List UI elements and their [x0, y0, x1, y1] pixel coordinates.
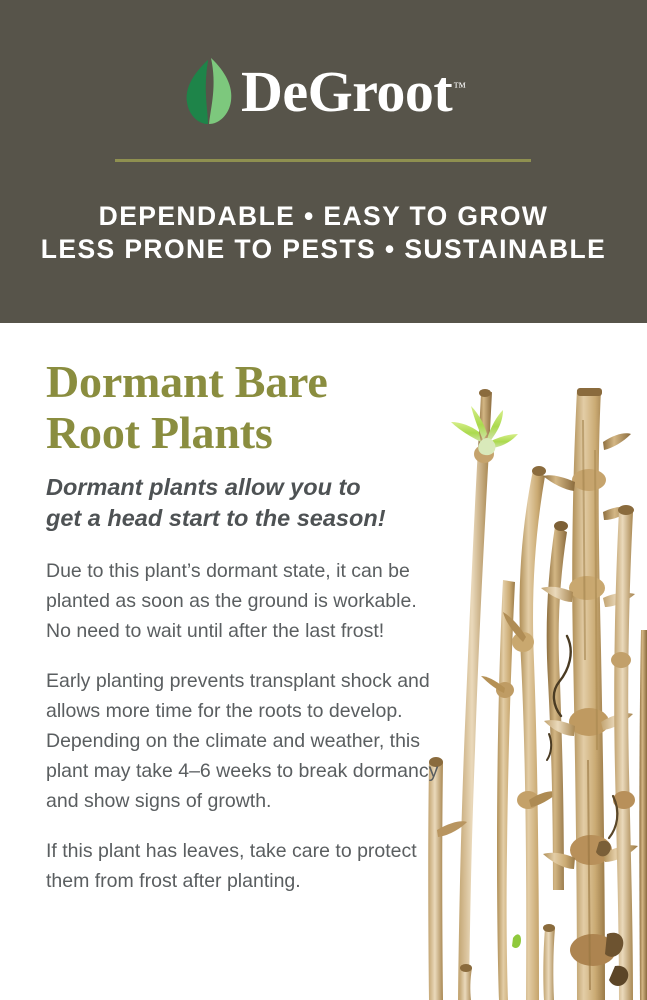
- header-divider: [115, 159, 531, 162]
- brand-wordmark: DeGroot™: [241, 63, 466, 121]
- page-title-line-1: Dormant Bare: [46, 356, 446, 407]
- body-paragraph-1: Due to this plant’s dormant state, it ca…: [46, 556, 446, 646]
- tagline-line-2: LESS PRONE TO PESTS • SUSTAINABLE: [0, 233, 647, 266]
- trademark-icon: ™: [453, 79, 466, 94]
- brand-tagline: DEPENDABLE • EASY TO GROW LESS PRONE TO …: [0, 200, 647, 266]
- tagline-line-1: DEPENDABLE • EASY TO GROW: [0, 200, 647, 233]
- page-title: Dormant Bare Root Plants: [46, 356, 446, 458]
- brand-header: DeGroot™ DEPENDABLE • EASY TO GROW LESS …: [0, 0, 647, 323]
- bare-root-plant-photo: [417, 330, 647, 1000]
- page-subtitle-line-1: Dormant plants allow you to: [46, 472, 446, 503]
- page-title-line-2: Root Plants: [46, 407, 446, 458]
- page-subtitle-line-2: get a head start to the season!: [46, 503, 446, 534]
- body-paragraph-2: Early planting prevents transplant shock…: [46, 666, 446, 816]
- body-paragraph-3: If this plant has leaves, take care to p…: [46, 836, 446, 896]
- leaf-logo-icon: [181, 56, 235, 128]
- product-info-card: DeGroot™ DEPENDABLE • EASY TO GROW LESS …: [0, 0, 647, 1000]
- article-content: Dormant Bare Root Plants Dormant plants …: [46, 356, 446, 896]
- page-subtitle: Dormant plants allow you to get a head s…: [46, 472, 446, 534]
- brand-logo: DeGroot™: [0, 56, 647, 128]
- brand-wordmark-text: DeGroot: [241, 59, 452, 124]
